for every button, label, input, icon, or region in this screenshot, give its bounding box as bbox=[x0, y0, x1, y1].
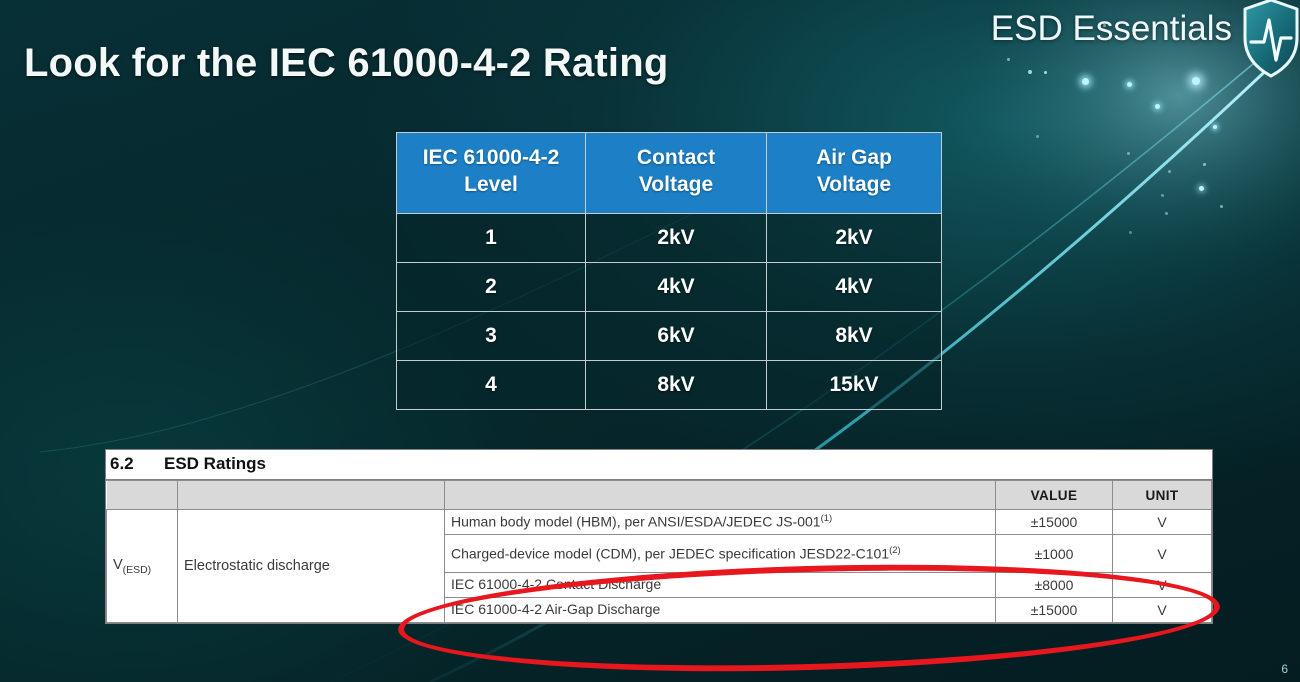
table-row: V(ESD) Electrostatic discharge Human bod… bbox=[107, 510, 1212, 535]
iec-cell-level: 4 bbox=[397, 360, 586, 409]
datasheet-parameter: Electrostatic discharge bbox=[178, 510, 445, 623]
iec-cell-contact: 4kV bbox=[586, 262, 767, 311]
datasheet-unit: V bbox=[1113, 598, 1212, 623]
iec-cell-contact: 8kV bbox=[586, 360, 767, 409]
iec-header-airgap: Air Gap Voltage bbox=[767, 133, 942, 214]
datasheet-unit: V bbox=[1113, 510, 1212, 535]
datasheet-header-blank-desc bbox=[445, 481, 996, 510]
footnote-marker: (1) bbox=[821, 513, 833, 524]
table-row: 3 6kV 8kV bbox=[397, 311, 942, 360]
sparkle-particle bbox=[1036, 135, 1039, 138]
datasheet-header-row: VALUE UNIT bbox=[107, 481, 1212, 510]
datasheet-description: IEC 61000-4-2 Air-Gap Discharge bbox=[445, 598, 996, 623]
datasheet-unit: V bbox=[1113, 535, 1212, 573]
sparkle-particle bbox=[1028, 70, 1032, 74]
description-text: IEC 61000-4-2 Contact Discharge bbox=[451, 576, 661, 592]
table-row: 2 4kV 4kV bbox=[397, 262, 942, 311]
sparkle-particle bbox=[1220, 205, 1223, 208]
iec-cell-airgap: 2kV bbox=[767, 213, 942, 262]
sparkle-particle bbox=[1082, 78, 1089, 85]
sparkle-particle bbox=[1127, 82, 1132, 87]
iec-header-contact-line1: Contact bbox=[637, 146, 715, 169]
footnote-marker: (2) bbox=[889, 545, 901, 556]
sparkle-particle bbox=[1127, 152, 1130, 155]
datasheet-symbol: V(ESD) bbox=[107, 510, 178, 623]
shield-pulse-icon bbox=[1242, 0, 1300, 80]
iec-level-table: IEC 61000-4-2 Level Contact Voltage Air … bbox=[396, 132, 942, 410]
sparkle-particle bbox=[1161, 194, 1164, 197]
iec-cell-contact: 2kV bbox=[586, 213, 767, 262]
iec-cell-level: 1 bbox=[397, 213, 586, 262]
datasheet-header-unit: UNIT bbox=[1113, 481, 1212, 510]
iec-header-level-line1: IEC 61000-4-2 bbox=[423, 146, 560, 169]
datasheet-header-blank-param bbox=[178, 481, 445, 510]
section-number: 6.2 bbox=[110, 454, 164, 474]
datasheet-description: Charged-device model (CDM), per JEDEC sp… bbox=[445, 535, 996, 573]
datasheet-unit: V bbox=[1113, 573, 1212, 598]
symbol-base: V bbox=[113, 557, 123, 573]
iec-cell-airgap: 15kV bbox=[767, 360, 942, 409]
sparkle-particle bbox=[1199, 186, 1204, 191]
iec-cell-airgap: 8kV bbox=[767, 311, 942, 360]
brand-label: ESD Essentials bbox=[991, 9, 1232, 49]
datasheet-value: ±1000 bbox=[996, 535, 1113, 573]
description-text: Charged-device model (CDM), per JEDEC sp… bbox=[451, 545, 856, 561]
section-title: ESD Ratings bbox=[164, 454, 266, 473]
iec-table-header-row: IEC 61000-4-2 Level Contact Voltage Air … bbox=[397, 133, 942, 214]
datasheet-value: ±15000 bbox=[996, 598, 1113, 623]
iec-header-contact-line2: Voltage bbox=[639, 173, 713, 196]
sparkle-particle bbox=[1007, 58, 1010, 61]
sparkle-particle bbox=[1165, 212, 1168, 215]
datasheet-description: Human body model (HBM), per ANSI/ESDA/JE… bbox=[445, 510, 996, 535]
description-text-line2: C101 bbox=[856, 545, 889, 561]
table-row: 4 8kV 15kV bbox=[397, 360, 942, 409]
esd-ratings-table: VALUE UNIT V(ESD) Electrostatic discharg… bbox=[106, 480, 1212, 623]
iec-header-contact: Contact Voltage bbox=[586, 133, 767, 214]
table-row: 1 2kV 2kV bbox=[397, 213, 942, 262]
page-number: 6 bbox=[1281, 662, 1288, 676]
datasheet-value: ±8000 bbox=[996, 573, 1113, 598]
sparkle-particle bbox=[1044, 71, 1047, 74]
iec-header-level: IEC 61000-4-2 Level bbox=[397, 133, 586, 214]
datasheet-description: IEC 61000-4-2 Contact Discharge bbox=[445, 573, 996, 598]
sparkle-particle bbox=[1168, 170, 1171, 173]
sparkle-particle bbox=[1129, 231, 1132, 234]
iec-cell-airgap: 4kV bbox=[767, 262, 942, 311]
iec-header-airgap-line2: Voltage bbox=[817, 173, 891, 196]
iec-cell-level: 2 bbox=[397, 262, 586, 311]
sparkle-particle bbox=[1155, 104, 1160, 109]
iec-header-airgap-line1: Air Gap bbox=[816, 146, 892, 169]
sparkle-particle bbox=[1203, 163, 1206, 166]
sparkle-particle bbox=[1192, 77, 1200, 85]
datasheet-header-blank bbox=[107, 481, 178, 510]
iec-cell-contact: 6kV bbox=[586, 311, 767, 360]
datasheet-section-heading: 6.2ESD Ratings bbox=[106, 450, 1212, 480]
description-text: IEC 61000-4-2 Air-Gap Discharge bbox=[451, 601, 660, 617]
sparkle-particle bbox=[1213, 125, 1217, 129]
iec-header-level-line2: Level bbox=[464, 173, 518, 196]
datasheet-value: ±15000 bbox=[996, 510, 1113, 535]
datasheet-excerpt: 6.2ESD Ratings VALUE UNIT V(ESD) Electro… bbox=[105, 449, 1213, 624]
description-text: Human body model (HBM), per ANSI/ESDA/JE… bbox=[451, 514, 821, 530]
page-title: Look for the IEC 61000-4-2 Rating bbox=[24, 41, 669, 86]
symbol-subscript: (ESD) bbox=[123, 565, 151, 576]
slide-canvas: Look for the IEC 61000-4-2 Rating ESD Es… bbox=[0, 0, 1300, 682]
datasheet-header-value: VALUE bbox=[996, 481, 1113, 510]
iec-cell-level: 3 bbox=[397, 311, 586, 360]
